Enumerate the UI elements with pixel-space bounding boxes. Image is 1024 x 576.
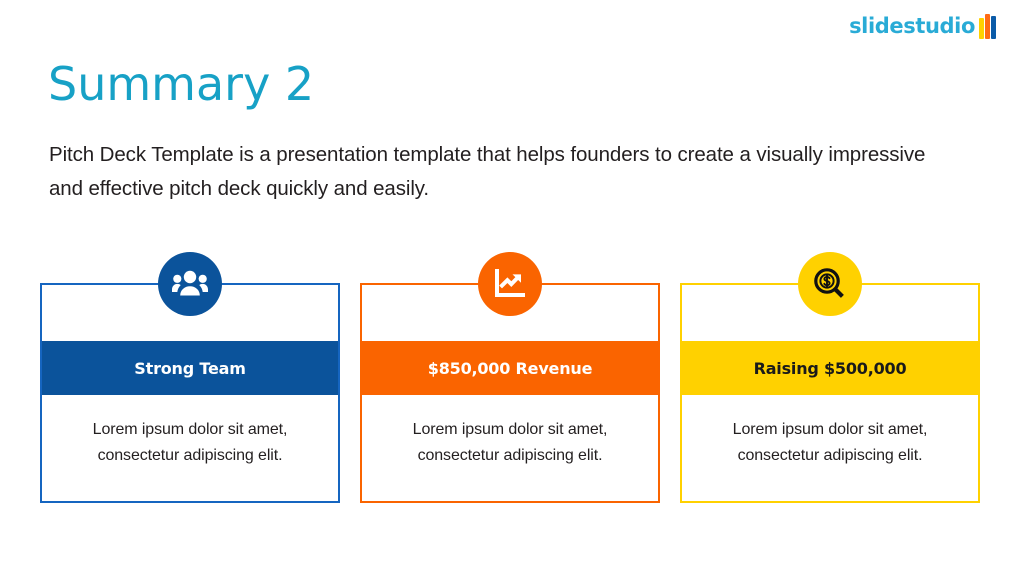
card-body-text: Lorem ipsum dolor sit amet, consectetur … bbox=[42, 395, 338, 468]
magnifier-dollar-icon bbox=[813, 267, 847, 301]
card-raising[interactable]: Raising $500,000 Lorem ipsum dolor sit a… bbox=[680, 283, 980, 503]
page-title: Summary 2 bbox=[48, 58, 314, 111]
slide-canvas: slidestudio Summary 2 Pitch Deck Templat… bbox=[0, 0, 1024, 576]
logo-bars-icon bbox=[979, 14, 996, 39]
card-heading-band: Raising $500,000 bbox=[682, 341, 978, 395]
card-icon-badge-raising bbox=[798, 252, 862, 316]
card-revenue[interactable]: $850,000 Revenue Lorem ipsum dolor sit a… bbox=[360, 283, 660, 503]
card-strong-team[interactable]: Strong Team Lorem ipsum dolor sit amet, … bbox=[40, 283, 340, 503]
people-group-icon bbox=[172, 269, 208, 299]
card-icon-badge-team bbox=[158, 252, 222, 316]
card-icon-badge-revenue bbox=[478, 252, 542, 316]
card-heading: $850,000 Revenue bbox=[428, 359, 592, 378]
growth-chart-icon bbox=[493, 268, 527, 300]
card-heading: Strong Team bbox=[134, 359, 245, 378]
brand-logo[interactable]: slidestudio bbox=[849, 14, 996, 39]
card-heading: Raising $500,000 bbox=[754, 359, 907, 378]
intro-paragraph: Pitch Deck Template is a presentation te… bbox=[49, 138, 949, 206]
card-heading-band: Strong Team bbox=[42, 341, 338, 395]
brand-name: slidestudio bbox=[849, 16, 975, 37]
card-group: Strong Team Lorem ipsum dolor sit amet, … bbox=[40, 252, 984, 504]
card-body-text: Lorem ipsum dolor sit amet, consectetur … bbox=[682, 395, 978, 468]
card-body-text: Lorem ipsum dolor sit amet, consectetur … bbox=[362, 395, 658, 468]
card-heading-band: $850,000 Revenue bbox=[362, 341, 658, 395]
